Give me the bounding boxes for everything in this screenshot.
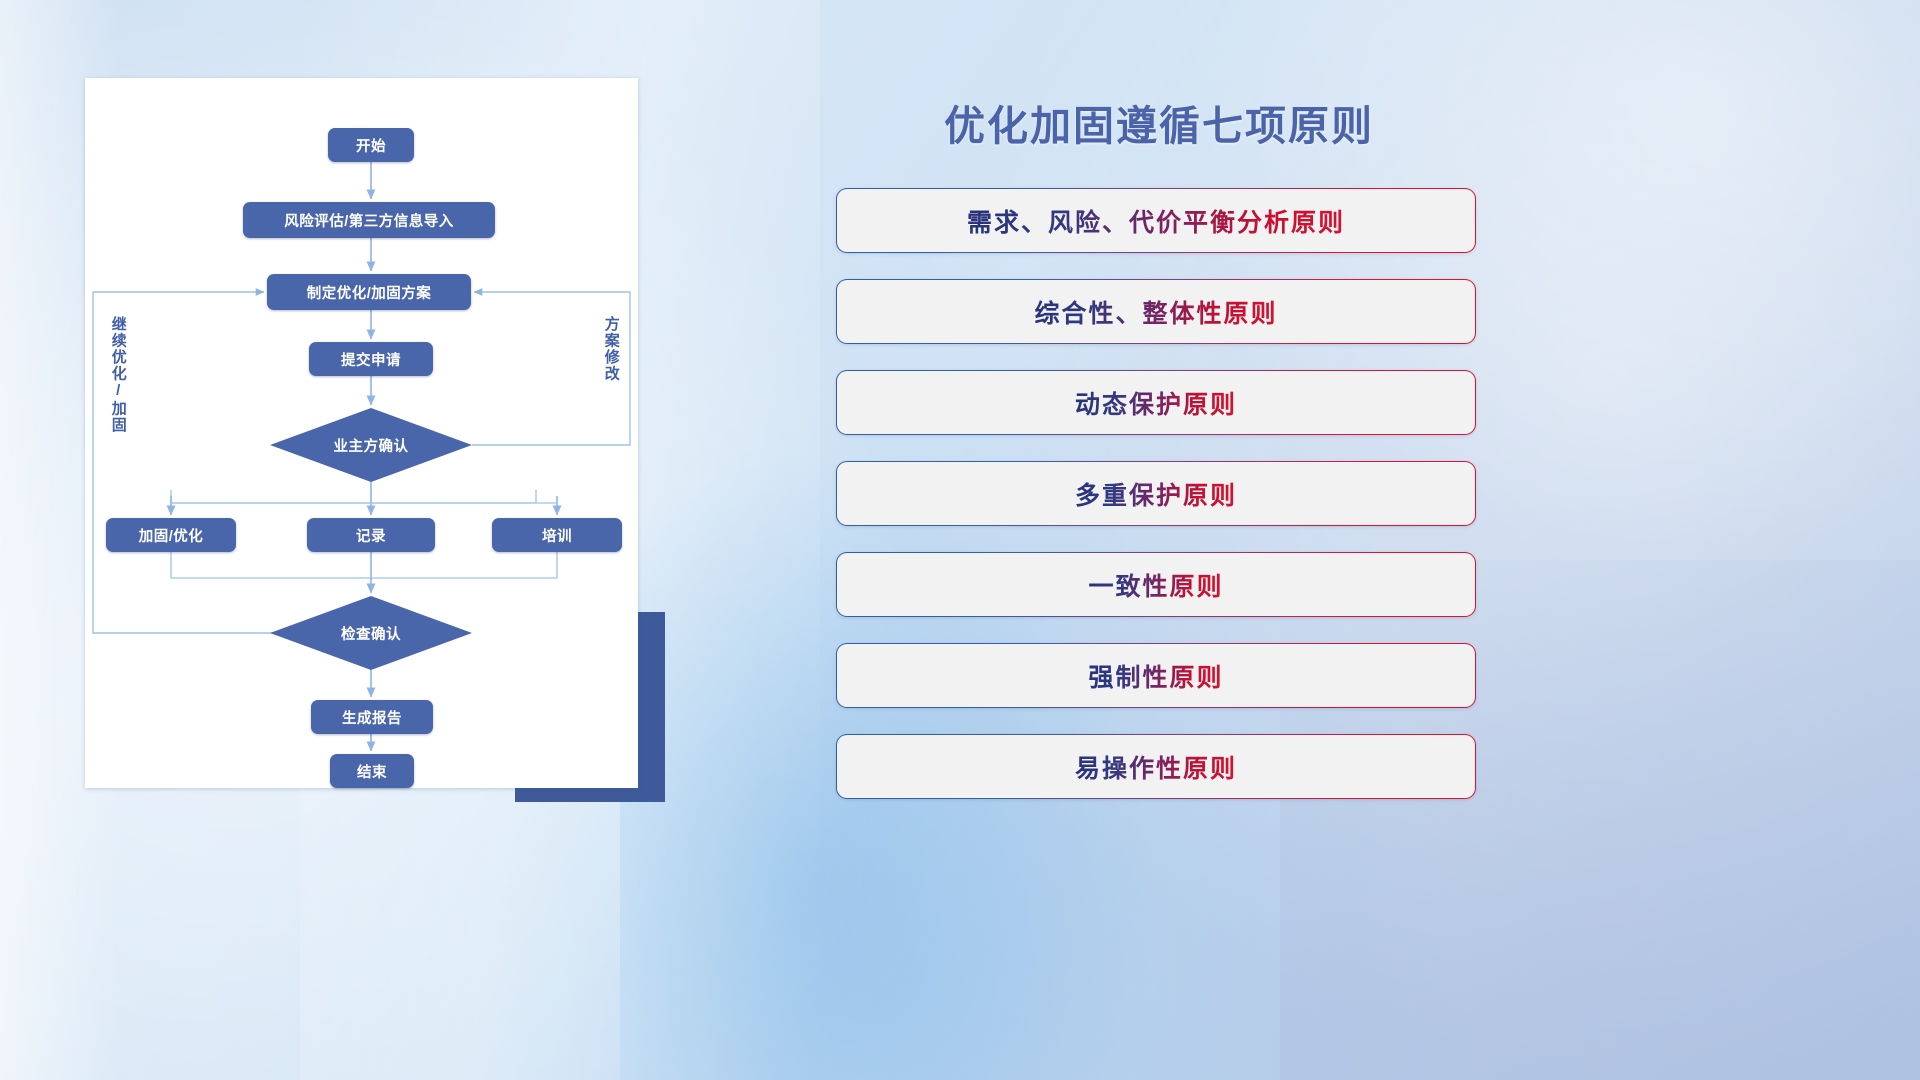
flow-node-plan[interactable]: 制定优化/加固方案 [267, 274, 471, 310]
principle-card-6[interactable]: 强制性原则 [836, 643, 1476, 708]
flow-label-plan-revision: 方案修改 [603, 316, 619, 382]
principle-label-1: 需求、风险、代价平衡分析原则 [967, 203, 1345, 239]
principle-label-2: 综合性、整体性原则 [1034, 294, 1277, 330]
flow-node-generate-report[interactable]: 生成报告 [311, 700, 433, 734]
principle-label-7: 易操作性原则 [1075, 749, 1237, 785]
principle-card-5[interactable]: 一致性原则 [836, 552, 1476, 617]
flowchart-card: 开始 风险评估/第三方信息导入 制定优化/加固方案 提交申请 业主方确认 加固/… [85, 78, 638, 788]
principle-label-3: 动态保护原则 [1075, 385, 1237, 421]
principle-card-3[interactable]: 动态保护原则 [836, 370, 1476, 435]
flow-node-record[interactable]: 记录 [307, 518, 435, 552]
principle-card-2[interactable]: 综合性、整体性原则 [836, 279, 1476, 344]
principle-label-6: 强制性原则 [1088, 658, 1223, 694]
principle-label-4: 多重保护原则 [1075, 476, 1237, 512]
principle-card-4[interactable]: 多重保护原则 [836, 461, 1476, 526]
flow-node-end[interactable]: 结束 [330, 754, 414, 788]
principle-label-5: 一致性原则 [1088, 567, 1223, 603]
flow-label-continue-optimize: 继续优化/加固 [110, 316, 126, 434]
principle-card-7[interactable]: 易操作性原则 [836, 734, 1476, 799]
flow-node-check-confirm[interactable]: 检查确认 [270, 596, 472, 670]
principles-panel: 优化加固遵循七项原则 需求、风险、代价平衡分析原则 综合性、整体性原则 动态保护… [836, 78, 1856, 1008]
principles-title: 优化加固遵循七项原则 [944, 92, 1374, 152]
flow-node-submit-application[interactable]: 提交申请 [309, 342, 433, 376]
flow-node-training[interactable]: 培训 [492, 518, 622, 552]
principle-card-1[interactable]: 需求、风险、代价平衡分析原则 [836, 188, 1476, 253]
flow-node-risk-assessment[interactable]: 风险评估/第三方信息导入 [243, 202, 495, 238]
flow-node-reinforce[interactable]: 加固/优化 [106, 518, 236, 552]
flow-node-start[interactable]: 开始 [328, 128, 414, 162]
flow-node-owner-confirm[interactable]: 业主方确认 [270, 408, 472, 482]
